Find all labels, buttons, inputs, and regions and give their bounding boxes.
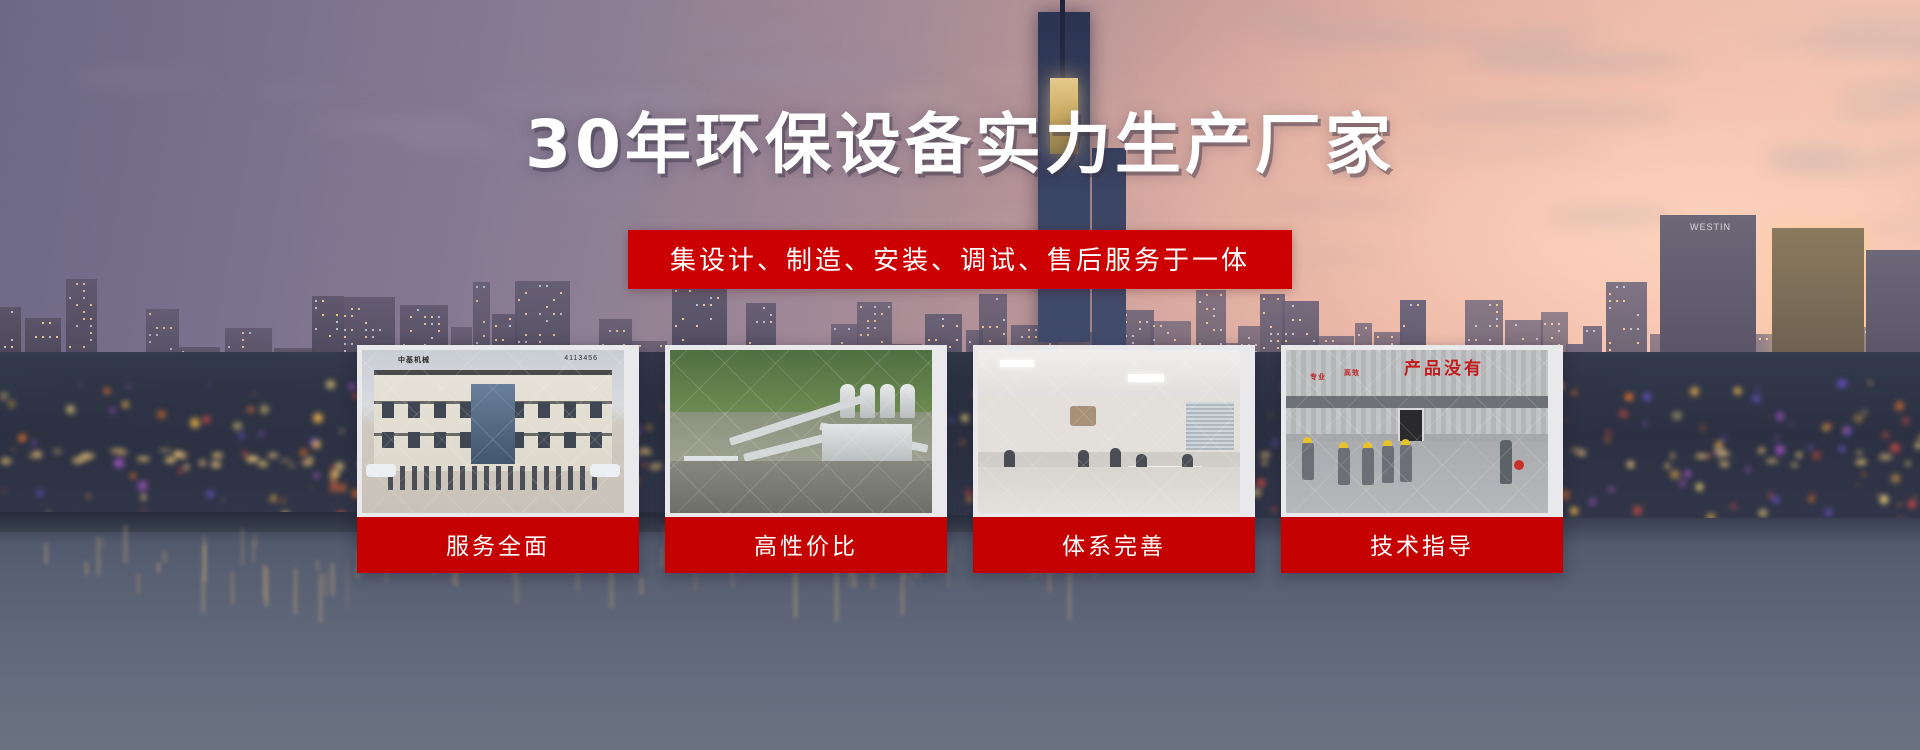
silo [900, 384, 915, 418]
ceiling-light [1128, 374, 1164, 382]
building-window [351, 308, 353, 310]
water-reflection [316, 560, 319, 572]
building-window [1003, 319, 1005, 321]
building-window [539, 341, 541, 343]
park-light [1679, 479, 1686, 486]
feature-card-system[interactable]: 体系完善 [973, 345, 1255, 573]
road-light [137, 457, 150, 461]
building-window [1637, 314, 1639, 316]
park-light [338, 484, 346, 492]
westin-hotel-building [1660, 215, 1756, 365]
building-window [1616, 286, 1618, 288]
building-window [1199, 301, 1201, 303]
building-window [438, 316, 440, 318]
building-window [518, 299, 520, 301]
building-window [1139, 328, 1141, 330]
building-window [1522, 338, 1524, 340]
window-row [382, 402, 474, 418]
building-window [1213, 315, 1215, 317]
building-window [546, 320, 548, 322]
water-reflection [157, 562, 160, 573]
park-light [1746, 467, 1750, 471]
park-light [313, 413, 323, 423]
building-window [1299, 319, 1301, 321]
park-light [1812, 451, 1821, 460]
building-window [942, 325, 944, 327]
water-reflection [45, 542, 48, 564]
building-window [163, 327, 165, 329]
park-light [1701, 426, 1705, 430]
building-window [170, 327, 172, 329]
building-window [710, 297, 712, 299]
window-row [512, 402, 604, 418]
building-window [49, 336, 51, 338]
building-window [525, 292, 527, 294]
park-light [1808, 445, 1813, 450]
hero-banner: WESTIN 30年环保设备实力生产厂家 集设计、制造、安装、调试、售后服务于一… [0, 0, 1920, 750]
card-label: 体系完善 [973, 517, 1255, 573]
building-window [35, 336, 37, 338]
hard-hat [1363, 442, 1372, 448]
building-window [483, 321, 485, 323]
park-light [310, 488, 313, 491]
building-window [149, 341, 151, 343]
building-window [431, 316, 433, 318]
park-light [260, 405, 269, 414]
park-light [259, 432, 263, 436]
building-window [83, 283, 85, 285]
page-title: 30年环保设备实力生产厂家 [0, 112, 1920, 178]
park-light [314, 473, 319, 478]
building-window [336, 328, 338, 330]
park-light [1902, 417, 1910, 425]
right-edge-building [1866, 250, 1920, 368]
park-light [1890, 443, 1900, 453]
building-window [1325, 340, 1327, 342]
building-window [1139, 321, 1141, 323]
road-light [1716, 456, 1723, 459]
building-window [1213, 308, 1215, 310]
westin-sign: WESTIN [1690, 222, 1731, 232]
road-light [1665, 463, 1670, 469]
card-label: 高性价比 [665, 517, 947, 573]
park-light [1672, 411, 1681, 420]
park-light [12, 448, 15, 451]
building-window [989, 326, 991, 328]
building-window [1417, 304, 1419, 306]
building-window [11, 339, 13, 341]
building-window [344, 315, 346, 317]
park-light [1856, 484, 1859, 487]
park-light [1877, 493, 1880, 496]
building-window [689, 290, 691, 292]
road-light [199, 460, 206, 466]
building-window [1496, 325, 1498, 327]
building-window [525, 334, 527, 336]
building-window [495, 339, 497, 341]
building-window [1277, 340, 1279, 342]
building-window [1766, 338, 1768, 340]
office-ceiling [978, 350, 1240, 397]
building-window [1263, 298, 1265, 300]
building-window [1593, 330, 1595, 332]
park-light [37, 490, 43, 496]
building-window [1489, 339, 1491, 341]
road-light [302, 459, 313, 466]
park-light [1564, 419, 1567, 422]
building-window [149, 313, 151, 315]
park-light [18, 437, 23, 442]
water-reflection [265, 567, 268, 608]
building-window [539, 285, 541, 287]
phone-number: 4113456 [564, 355, 598, 362]
water-reflection [163, 551, 166, 563]
building-window [76, 283, 78, 285]
water-reflection [85, 561, 88, 575]
park-light [1776, 412, 1785, 421]
building-window [424, 316, 426, 318]
hard-hat [1401, 439, 1410, 445]
building-window [525, 341, 527, 343]
building-window [42, 322, 44, 324]
building-window [1263, 312, 1265, 314]
building-window [379, 329, 381, 331]
building-window [609, 330, 611, 332]
building-window [1270, 326, 1272, 328]
building-window [770, 321, 772, 323]
building-window [682, 339, 684, 341]
building-window [1206, 322, 1208, 324]
park-light [1759, 509, 1767, 517]
building-window [1132, 335, 1134, 337]
road-light [159, 449, 172, 452]
park-light [2, 489, 6, 493]
water-reflection [640, 577, 643, 595]
building-window [1496, 311, 1498, 313]
road-light [268, 453, 278, 458]
building-window [1021, 336, 1023, 338]
building-window [1220, 294, 1222, 296]
building-window [1623, 328, 1625, 330]
park-light [1722, 436, 1727, 441]
building-window [874, 327, 876, 329]
park-light [190, 418, 200, 428]
staff-lineup [388, 466, 598, 490]
building-window [336, 314, 338, 316]
water-reflection [294, 568, 297, 615]
building-window [1206, 308, 1208, 310]
building-window [546, 306, 548, 308]
building-window [509, 325, 511, 327]
building-window [616, 330, 618, 332]
building-window [438, 330, 440, 332]
park-light [32, 441, 36, 445]
road-light [1713, 449, 1727, 453]
supervisor [1500, 440, 1512, 484]
building-window [476, 342, 478, 344]
building-window [336, 321, 338, 323]
building-window [1544, 323, 1546, 325]
parked-car [366, 464, 396, 477]
park-light [349, 384, 355, 390]
building-window [553, 299, 555, 301]
building-window [1153, 325, 1155, 327]
water-reflection [835, 572, 838, 622]
building-window [1132, 342, 1134, 344]
building-window [42, 336, 44, 338]
building-window [881, 313, 883, 315]
park-light [141, 494, 147, 500]
building-window [1609, 342, 1611, 344]
building-window [76, 325, 78, 327]
building-window [710, 304, 712, 306]
park-light [1604, 436, 1611, 443]
building-window [90, 304, 92, 306]
water-reflection [1068, 571, 1071, 620]
building-window [1496, 318, 1498, 320]
water-reflection [124, 525, 127, 562]
park-light [203, 416, 210, 423]
building-window [1536, 338, 1538, 340]
road-light [79, 454, 89, 459]
park-light [1735, 459, 1737, 461]
building-window [170, 348, 172, 350]
building-window [956, 339, 958, 341]
building-window [1377, 336, 1379, 338]
building-window [344, 336, 346, 338]
building-window [1475, 339, 1477, 341]
building-window [1206, 294, 1208, 296]
factory-slogan: 专业 [1310, 372, 1326, 382]
park-light [1643, 393, 1651, 401]
building-window [431, 323, 433, 325]
building-window [1515, 324, 1517, 326]
park-light [233, 422, 241, 430]
hard-hat [1383, 440, 1392, 446]
factory-worker [1382, 445, 1394, 483]
building-window [83, 290, 85, 292]
building-window [1551, 337, 1553, 339]
parked-car [590, 464, 620, 477]
building-window [156, 334, 158, 336]
road-light [1571, 448, 1580, 452]
park-light [1625, 393, 1634, 402]
water-reflection [241, 527, 244, 565]
park-light [1854, 414, 1862, 422]
park-light [1570, 507, 1578, 515]
building-entrance [471, 384, 515, 464]
feature-card-value[interactable]: 高性价比 [665, 345, 947, 573]
building-window [495, 325, 497, 327]
road-light [1627, 461, 1633, 468]
silo [880, 384, 895, 418]
building-window [417, 309, 419, 311]
feature-card-service[interactable]: 中基机械 4113456 服务全面 [357, 345, 639, 573]
road-light [288, 464, 296, 468]
building-window [1332, 340, 1334, 342]
building-window [1410, 304, 1412, 306]
building-window [365, 336, 367, 338]
water-reflection [794, 569, 797, 619]
building-window [756, 321, 758, 323]
building-window [1496, 304, 1498, 306]
building-window [553, 334, 555, 336]
park-light [0, 392, 8, 400]
park-light [270, 495, 277, 502]
building-window [1365, 327, 1367, 329]
building-window [315, 300, 317, 302]
building-window [874, 306, 876, 308]
park-light [1915, 442, 1920, 449]
building-window [874, 313, 876, 315]
park-light [331, 466, 334, 469]
window-row [512, 432, 604, 448]
building-window [11, 311, 13, 313]
park-light [1730, 503, 1737, 510]
building-window [539, 334, 541, 336]
park-light [1734, 387, 1742, 395]
park-light [312, 440, 321, 449]
building-window [1270, 333, 1272, 335]
building-window [365, 322, 367, 324]
building-window [860, 306, 862, 308]
building-window [623, 330, 625, 332]
building-window [1285, 340, 1287, 342]
building-window [156, 327, 158, 329]
building-window [881, 341, 883, 343]
building-window [1248, 337, 1250, 339]
building-window [770, 314, 772, 316]
building-window [989, 340, 991, 342]
building-window [315, 328, 317, 330]
ceiling-light [1000, 360, 1034, 367]
building-window [1586, 330, 1588, 332]
building-window [969, 341, 971, 343]
water-reflection [331, 563, 334, 596]
building-window [11, 346, 13, 348]
park-light [1809, 496, 1815, 502]
park-light [1908, 500, 1916, 508]
building-window [1153, 339, 1155, 341]
building-window [322, 300, 324, 302]
building-window [83, 311, 85, 313]
park-light [104, 388, 110, 394]
building-window [76, 304, 78, 306]
park-light [247, 406, 255, 414]
building-window [372, 329, 374, 331]
building-window [1292, 319, 1294, 321]
card-photo-headquarters: 中基机械 4113456 [362, 350, 624, 513]
park-light [79, 384, 81, 386]
park-light [206, 490, 214, 498]
window-row [382, 432, 474, 448]
park-light [1868, 381, 1872, 385]
park-light [1839, 446, 1845, 452]
plant-yard [670, 461, 932, 513]
building-window [539, 313, 541, 315]
water-reflection [319, 574, 322, 624]
water-reflection [346, 561, 349, 609]
park-light [1670, 470, 1679, 479]
park-light [1891, 474, 1900, 483]
park-light [1772, 496, 1779, 503]
building-window [717, 297, 719, 299]
building-window [149, 334, 151, 336]
building-window [372, 336, 374, 338]
building-window [749, 342, 751, 344]
park-light [1589, 498, 1596, 505]
building-window [956, 325, 958, 327]
feature-card-list: 中基机械 4113456 服务全面 [357, 345, 1563, 573]
building-window [365, 329, 367, 331]
building-window [1609, 349, 1611, 351]
card-photo-factory: 产品没有 专业 高效 [1286, 350, 1548, 513]
building-window [525, 313, 527, 315]
road-light [1906, 461, 1911, 466]
park-light [114, 458, 124, 468]
road-light [1856, 451, 1863, 455]
building-window [1160, 325, 1162, 327]
road-light [184, 464, 189, 470]
water-reflection [97, 537, 100, 576]
building-window [1035, 329, 1037, 331]
park-light [157, 410, 166, 419]
building-window [1403, 325, 1405, 327]
park-light [1775, 445, 1785, 455]
building-window [1003, 333, 1005, 335]
building-window [483, 286, 485, 288]
feature-card-guidance[interactable]: 产品没有 专业 高效 技术指导 [1281, 345, 1563, 573]
building-window [49, 322, 51, 324]
building-window [867, 327, 869, 329]
park-light [222, 499, 224, 501]
building-window [763, 321, 765, 323]
building-window [1609, 300, 1611, 302]
building-window [867, 320, 869, 322]
road-light [165, 457, 176, 463]
building-window [1616, 300, 1618, 302]
building-window [410, 316, 412, 318]
park-light [1862, 410, 1867, 415]
building-window [83, 346, 85, 348]
park-light [1790, 422, 1794, 426]
building-window [996, 326, 998, 328]
park-light [209, 383, 212, 386]
park-light [335, 462, 344, 471]
building-window [424, 323, 426, 325]
hard-hat [1303, 437, 1312, 443]
building-window [942, 318, 944, 320]
building-window [358, 308, 360, 310]
water-reflection [231, 571, 234, 604]
plaza-hotel-building [1772, 228, 1864, 368]
building-window [1358, 334, 1360, 336]
road-light [280, 459, 292, 462]
building-window [351, 329, 353, 331]
building-window [56, 336, 58, 338]
park-light [1843, 427, 1847, 431]
road-light [1796, 452, 1803, 459]
building-window [502, 339, 504, 341]
park-light [1756, 387, 1760, 391]
building-window [1292, 305, 1294, 307]
road-light [32, 451, 42, 458]
park-light [1696, 483, 1703, 490]
building-window [1489, 325, 1491, 327]
park-light [1690, 387, 1699, 396]
company-sign: 中基机械 [398, 355, 430, 365]
factory-window-band [1286, 396, 1548, 408]
